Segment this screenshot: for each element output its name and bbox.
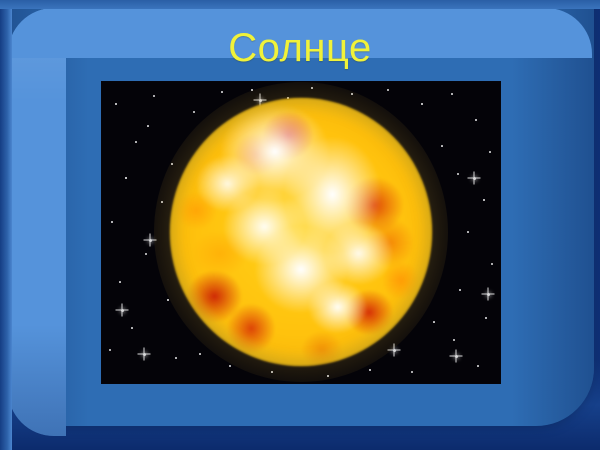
star-dot bbox=[483, 199, 485, 201]
star-dot bbox=[457, 173, 459, 175]
star-dot bbox=[475, 119, 477, 121]
star-dot bbox=[131, 327, 133, 329]
star-dot bbox=[451, 93, 453, 95]
star-dot bbox=[453, 339, 455, 341]
star-glint bbox=[449, 349, 463, 363]
star-dot bbox=[111, 221, 113, 223]
sun-photograph bbox=[102, 82, 500, 383]
star-dot bbox=[441, 145, 443, 147]
star-glint bbox=[115, 303, 129, 317]
star-dot bbox=[311, 87, 313, 89]
star-dot bbox=[221, 91, 223, 93]
star-dot bbox=[125, 177, 128, 180]
sun-graphic bbox=[170, 98, 432, 366]
star-dot bbox=[251, 89, 253, 91]
sun-limb-darkening bbox=[170, 98, 432, 366]
star-dot bbox=[109, 349, 111, 351]
star-dot bbox=[459, 289, 461, 291]
star-dot bbox=[351, 93, 353, 95]
left-accent-panel-shading bbox=[8, 8, 66, 436]
star-dot bbox=[477, 365, 479, 367]
star-dot bbox=[167, 299, 169, 301]
star-dot bbox=[115, 103, 117, 105]
star-dot bbox=[147, 125, 149, 127]
star-glint bbox=[143, 233, 157, 247]
star-glint bbox=[467, 171, 481, 185]
star-dot bbox=[433, 321, 435, 323]
presentation-slide: Солнце bbox=[0, 0, 600, 450]
star-dot bbox=[411, 371, 413, 373]
star-dot bbox=[485, 317, 487, 319]
star-dot bbox=[491, 263, 493, 265]
star-glint bbox=[137, 347, 151, 361]
top-edge-stripe bbox=[0, 0, 600, 9]
star-dot bbox=[489, 151, 491, 153]
star-dot bbox=[153, 95, 155, 97]
star-dot bbox=[271, 371, 273, 373]
star-dot bbox=[145, 253, 147, 255]
star-dot bbox=[327, 375, 329, 377]
star-dot bbox=[467, 231, 469, 233]
star-dot bbox=[161, 201, 163, 203]
star-dot bbox=[369, 369, 371, 371]
star-dot bbox=[119, 281, 121, 283]
star-dot bbox=[135, 141, 137, 143]
star-glint bbox=[481, 287, 495, 301]
slide-title: Солнце bbox=[0, 26, 600, 70]
star-dot bbox=[387, 89, 389, 91]
